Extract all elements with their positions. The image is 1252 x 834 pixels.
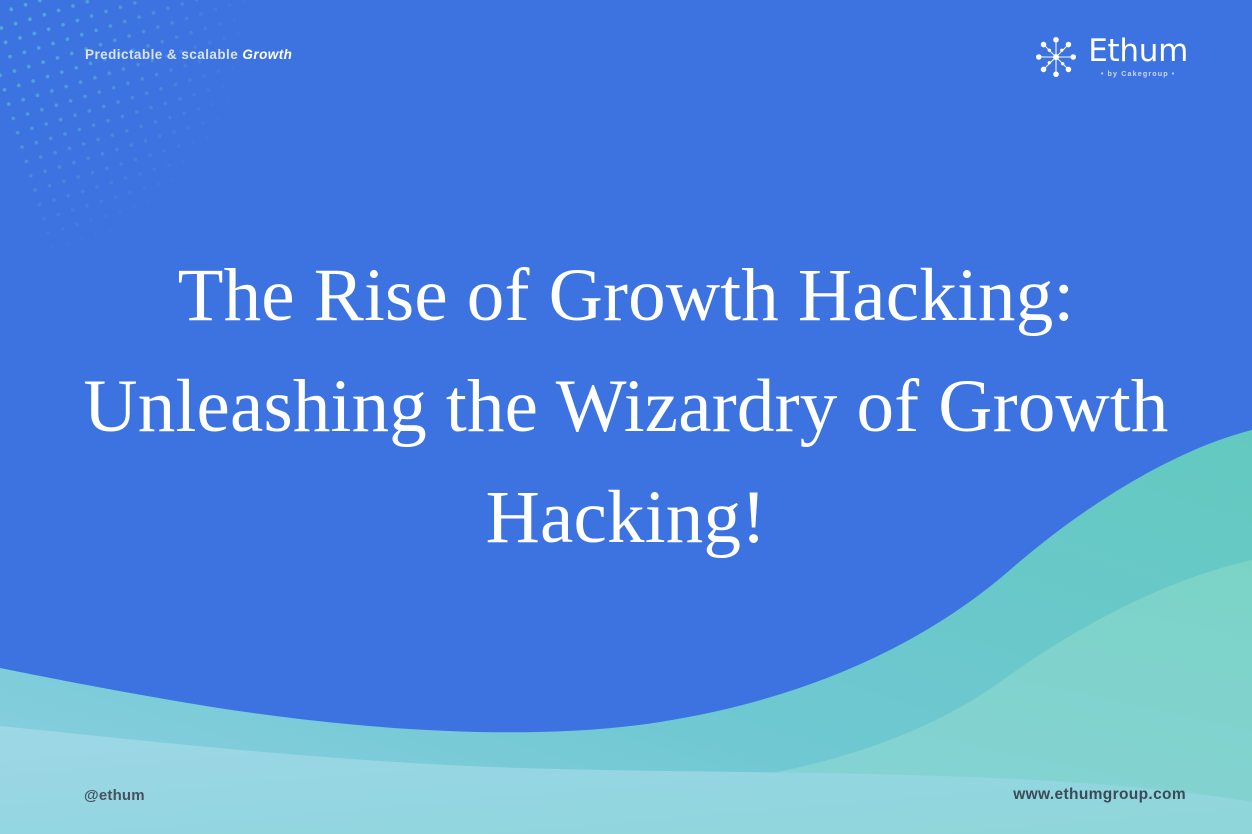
slide-canvas: Predictable & scalable Growth — [0, 0, 1252, 834]
website-url[interactable]: www.ethumgroup.com — [1013, 786, 1186, 804]
headline-container: The Rise of Growth Hacking: Unleashing t… — [0, 240, 1252, 573]
logo-text-block: Ethum • by Cakegroup • — [1088, 36, 1188, 77]
tagline-prefix: Predictable & scalable — [85, 47, 242, 62]
tagline-emphasis: Growth — [242, 47, 292, 62]
social-handle[interactable]: @ethum — [84, 787, 145, 804]
page-title: The Rise of Growth Hacking: Unleashing t… — [70, 240, 1182, 573]
tagline: Predictable & scalable Growth — [85, 47, 292, 62]
logo-subtitle: • by Cakegroup • — [1101, 70, 1176, 77]
radial-network-icon — [1033, 34, 1079, 80]
brand-logo[interactable]: Ethum • by Cakegroup • — [1033, 34, 1188, 80]
logo-wordmark: Ethum — [1088, 36, 1188, 67]
